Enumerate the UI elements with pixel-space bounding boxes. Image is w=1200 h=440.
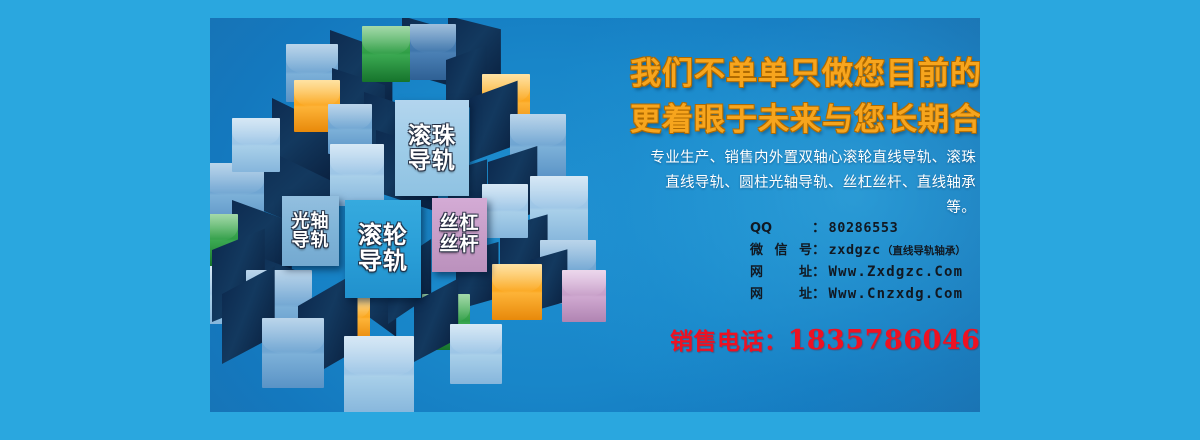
sales-phone-number[interactable]: 18357860469 <box>788 325 981 356</box>
contact-colon: ： <box>812 240 826 261</box>
label-line-1: 光轴 <box>292 212 330 231</box>
cube-face <box>482 184 528 238</box>
contact-colon: ： <box>812 218 826 239</box>
contact-row-website-1: 网址 ： Www.Zxdgzc.Com <box>750 262 980 283</box>
cube <box>562 270 606 322</box>
headline-line-1: 我们不单单只做您目前的订单 <box>630 48 980 93</box>
cube-face <box>362 26 410 82</box>
contact-key-website: 网址 <box>750 263 812 283</box>
cube <box>482 184 528 238</box>
sales-phone-label: 销售电话： <box>670 328 788 354</box>
contact-value-website-2[interactable]: Www.Cnzxdg.Com <box>829 284 964 305</box>
product-label-sigang-sigan[interactable]: 丝杠 丝杆 <box>432 198 487 272</box>
promo-banner: 滚珠 导轨 光轴 导轨 滚轮 导轨 丝杠 丝杆 我们不单单只做您目前的订单 更着… <box>210 18 980 412</box>
contact-row-qq: QQ ： 80286553 <box>750 218 980 239</box>
contact-key-wechat: 微信号 <box>750 241 812 261</box>
contact-value-website-1[interactable]: Www.Zxdgzc.Com <box>829 262 964 283</box>
cube-face <box>232 118 280 172</box>
label-line-1: 滚轮 <box>358 223 408 249</box>
cube <box>262 318 324 388</box>
contact-value-wechat[interactable]: zxdgzc <box>829 240 881 261</box>
contact-note-wechat: （直线导轨轴承） <box>882 244 966 260</box>
contact-row-wechat: 微信号 ： zxdgzc （直线导轨轴承） <box>750 240 980 261</box>
headline-line-2: 更着眼于未来与您长期合作 <box>630 94 980 139</box>
sales-phone[interactable]: 销售电话：18357860469 <box>670 322 980 356</box>
product-description: 专业生产、销售内外置双轴心滚轮直线导轨、滚珠直线导轨、圆柱光轴导轨、丝杠丝杆、直… <box>638 146 976 221</box>
label-line-2: 导轨 <box>292 231 330 250</box>
label-line-1: 滚珠 <box>408 123 456 148</box>
label-line-2: 丝杆 <box>439 235 479 256</box>
cube <box>492 264 542 320</box>
cube-cluster-graphic: 滚珠 导轨 光轴 导轨 滚轮 导轨 丝杠 丝杆 <box>210 18 630 412</box>
contact-value-qq[interactable]: 80286553 <box>829 218 899 239</box>
contact-key-qq: QQ <box>750 219 812 239</box>
contact-key-website: 网址 <box>750 285 812 305</box>
contact-colon: ： <box>812 262 826 283</box>
contact-block: QQ ： 80286553 微信号 ： zxdgzc （直线导轨轴承） 网址 ：… <box>750 218 980 306</box>
cube-face <box>562 270 606 322</box>
cube-face <box>450 324 502 384</box>
cube-face <box>344 336 414 412</box>
label-line-1: 丝杠 <box>439 214 479 235</box>
cube-face <box>492 264 542 320</box>
cube <box>232 118 280 172</box>
banner-page: 滚珠 导轨 光轴 导轨 滚轮 导轨 丝杠 丝杆 我们不单单只做您目前的订单 更着… <box>0 0 1200 440</box>
product-label-gunlun-daogui[interactable]: 滚轮 导轨 <box>345 200 421 298</box>
label-line-2: 导轨 <box>358 249 408 275</box>
product-label-gunzhu-daogui[interactable]: 滚珠 导轨 <box>395 100 469 196</box>
contact-colon: ： <box>812 284 826 305</box>
label-line-2: 导轨 <box>408 148 456 173</box>
contact-row-website-2: 网址 ： Www.Cnzxdg.Com <box>750 284 980 305</box>
cube <box>344 336 414 412</box>
product-label-guangzhou-daogui[interactable]: 光轴 导轨 <box>282 196 339 266</box>
banner-copy: 我们不单单只做您目前的订单 更着眼于未来与您长期合作 专业生产、销售内外置双轴心… <box>630 18 980 412</box>
cube <box>362 26 410 82</box>
cube <box>450 324 502 384</box>
cube-face <box>262 318 324 388</box>
